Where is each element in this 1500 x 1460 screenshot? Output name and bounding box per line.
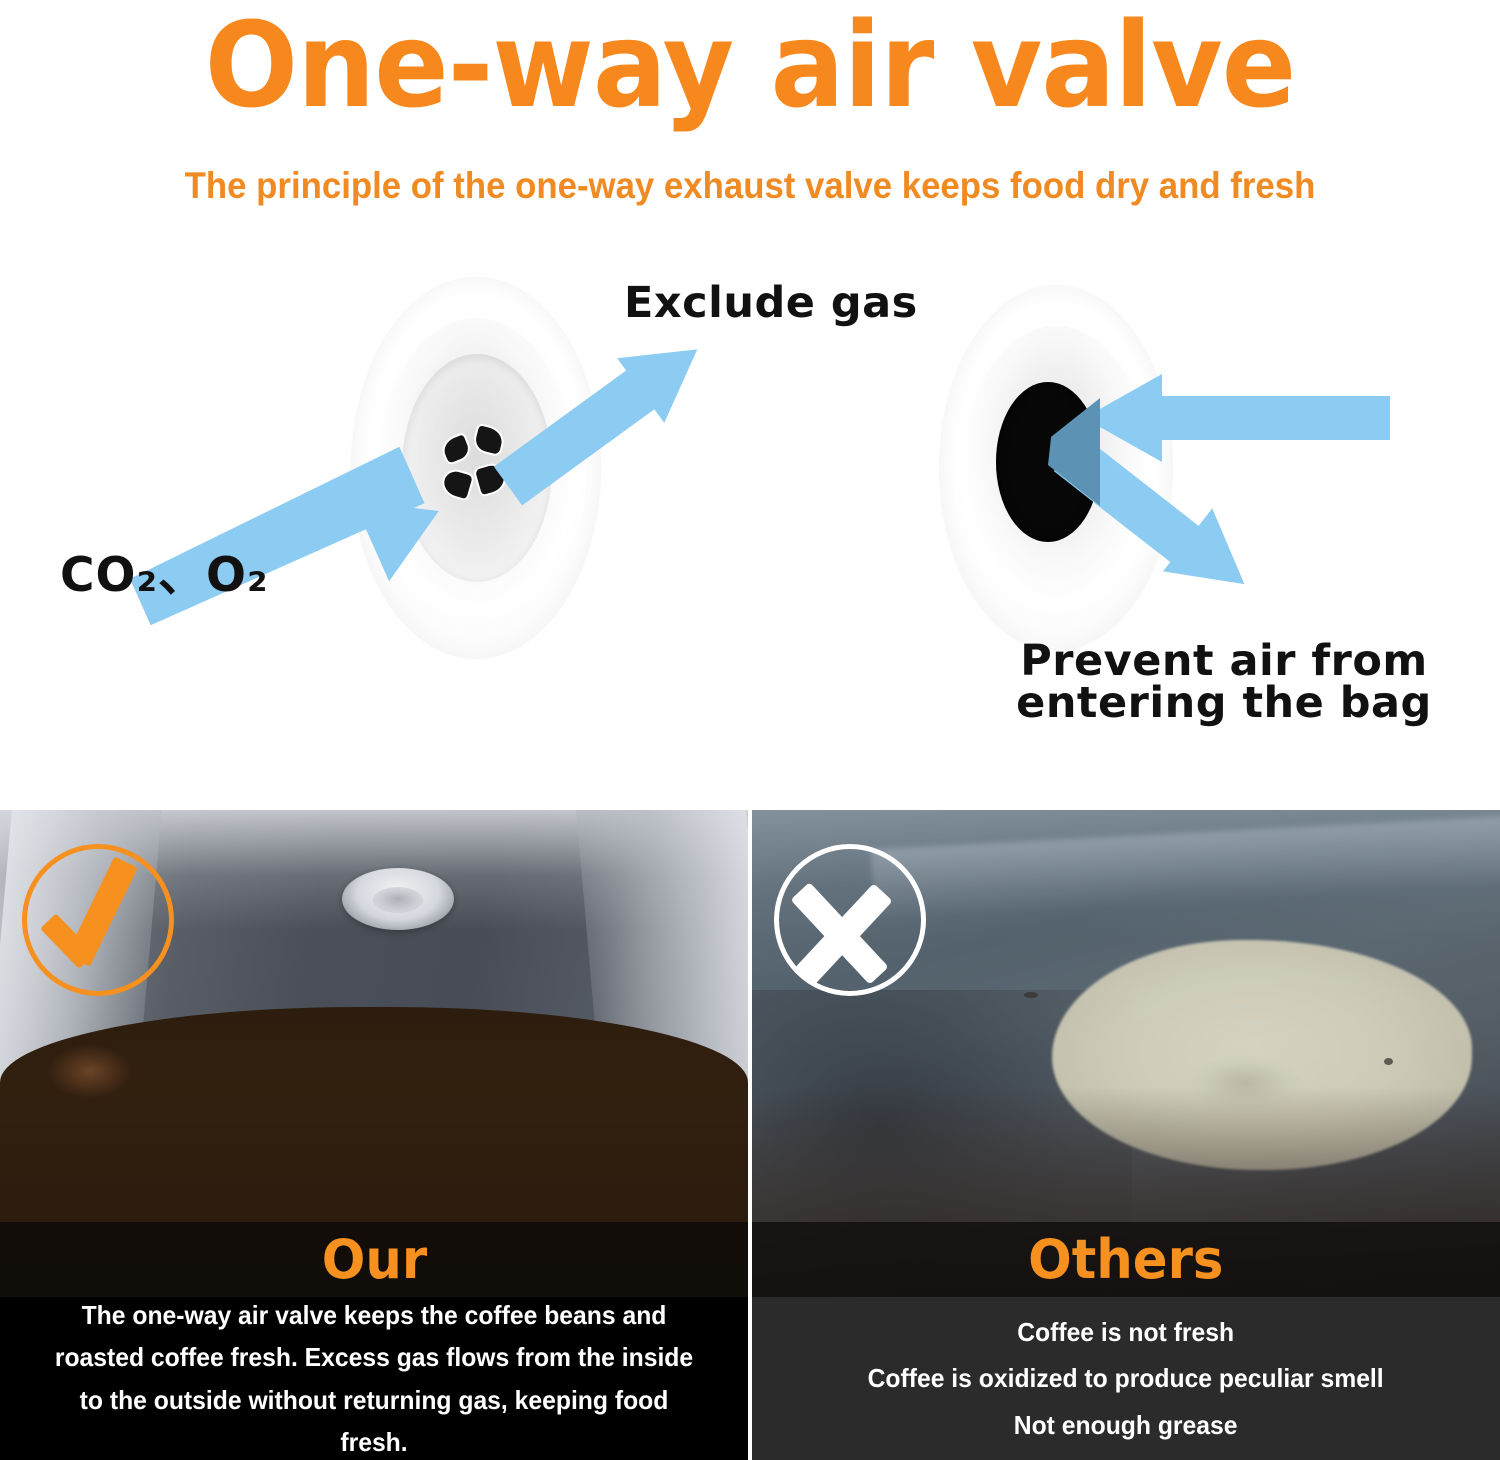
others-bag-photo: Others (752, 810, 1500, 1297)
prevent-air-line-2: entering the bag (984, 682, 1464, 724)
others-caption-line: Coffee is not fresh (1018, 1317, 1235, 1347)
exclude-gas-label: Exclude gas (624, 278, 918, 328)
others-heading: Others (1028, 1233, 1223, 1287)
deflected-arrow (1068, 420, 1348, 630)
others-caption-line: Coffee is oxidized to produce peculiar s… (868, 1363, 1384, 1393)
page-title: One-way air valve (53, 6, 1448, 124)
others-caption-line: Not enough grease (1014, 1410, 1238, 1440)
x-badge (774, 844, 926, 996)
panel-others: Others Coffee is not fresh Coffee is oxi… (752, 810, 1500, 1460)
others-caption: Coffee is not fresh Coffee is oxidized t… (752, 1297, 1500, 1460)
check-badge (22, 844, 174, 996)
page-subtitle: The principle of the one-way exhaust val… (45, 166, 1455, 207)
others-heading-band: Others (752, 1222, 1500, 1297)
co2-o2-label: CO₂、O₂ (60, 536, 269, 605)
header: One-way air valve The principle of the o… (0, 0, 1500, 240)
panel-our: Our The one-way air valve keeps the coff… (0, 810, 748, 1460)
comparison-section: Our The one-way air valve keeps the coff… (0, 810, 1500, 1460)
our-caption-text: The one-way air valve keeps the coffee b… (43, 1294, 704, 1460)
our-bag-photo: Our (0, 810, 748, 1297)
our-heading: Our (321, 1233, 426, 1287)
prevent-air-line-1: Prevent air from (984, 640, 1464, 682)
others-caption-text: Coffee is not fresh Coffee is oxidized t… (868, 1309, 1384, 1448)
valve-diagram: Exclude gas CO₂、O₂ Prevent air from ente… (0, 240, 1500, 810)
bag-air-valve (342, 868, 454, 930)
outflow-arrow (500, 312, 770, 562)
our-caption: The one-way air valve keeps the coffee b… (0, 1297, 748, 1460)
infographic-page: One-way air valve The principle of the o… (0, 0, 1500, 1460)
our-heading-band: Our (0, 1222, 748, 1297)
prevent-air-label: Prevent air from entering the bag (984, 640, 1464, 724)
